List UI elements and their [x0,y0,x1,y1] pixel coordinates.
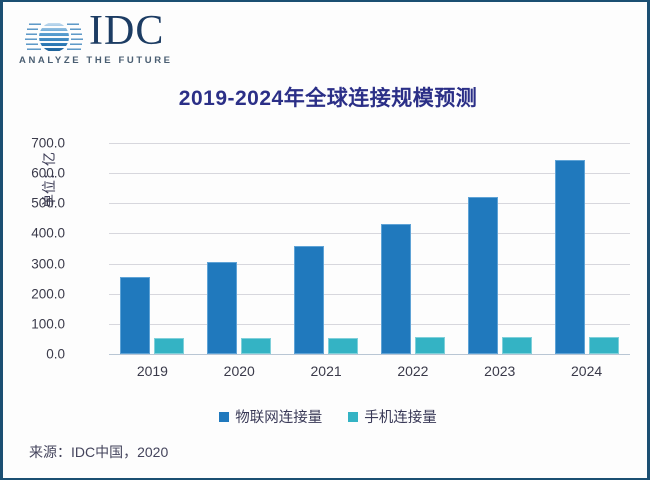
y-axis-tick-label: 700.0 [9,136,65,151]
bar-2021-iot [294,246,324,355]
chart-canvas: IDC ANALYZE THE FUTURE 2019-2024年全球连接规模预… [3,2,647,478]
bar-2020-mobile [241,338,271,354]
bar-2022-iot [381,224,411,354]
bar-2023-iot [468,197,498,354]
gridline [109,173,630,174]
idc-logo-text: IDC [89,10,164,52]
legend-item-iot[interactable]: 物联网连接量 [219,406,322,427]
legend-label: 手机连接量 [364,406,437,427]
chart-legend: 物联网连接量手机连接量 [3,406,650,427]
y-axis-tick-label: 600.0 [9,166,65,181]
bar-2020-iot [207,262,237,354]
x-axis-tick-label: 2024 [571,363,602,379]
bar-2019-iot [120,277,150,354]
legend-swatch-icon [348,412,358,422]
x-axis-tick-label: 2019 [137,363,168,379]
x-axis-tick-label: 2020 [224,363,255,379]
y-axis-tick-label: 100.0 [9,316,65,331]
y-axis-tick-label: 400.0 [9,226,65,241]
x-axis-tick-label: 2022 [397,363,428,379]
legend-item-mobile[interactable]: 手机连接量 [348,406,437,427]
axis-baseline [109,354,630,355]
bar-2019-mobile [154,338,184,354]
y-axis-tick-label: 200.0 [9,286,65,301]
bar-2023-mobile [502,337,532,354]
legend-label: 物联网连接量 [235,406,322,427]
y-axis-ticks: 700.0600.0500.0400.0300.0200.0100.00.0 [3,138,65,354]
idc-globe-icon [25,16,83,58]
bar-2024-iot [555,160,585,354]
legend-swatch-icon [219,412,229,422]
gridline [109,294,630,295]
gridline [109,233,630,234]
plot-area: 201920202021202220232024 [109,143,630,354]
y-axis-tick-label: 300.0 [9,256,65,271]
gridline [109,143,630,144]
x-axis-tick-label: 2023 [484,363,515,379]
chart-title: 2019-2024年全球连接规模预测 [3,82,650,112]
x-axis-tick-label: 2021 [311,363,342,379]
y-axis-tick-label: 0.0 [9,347,65,362]
y-axis-tick-label: 500.0 [9,196,65,211]
gridline [109,203,630,204]
bar-2021-mobile [328,338,358,354]
bar-2024-mobile [589,337,619,354]
gridline [109,324,630,325]
bar-2022-mobile [415,337,445,354]
idc-logo-tagline: ANALYZE THE FUTURE [19,55,173,66]
source-note: 来源：IDC中国，2020 [29,442,168,462]
idc-logo: IDC ANALYZE THE FUTURE [15,12,175,68]
gridline [109,264,630,265]
chart-image-frame: IDC ANALYZE THE FUTURE 2019-2024年全球连接规模预… [0,0,650,480]
